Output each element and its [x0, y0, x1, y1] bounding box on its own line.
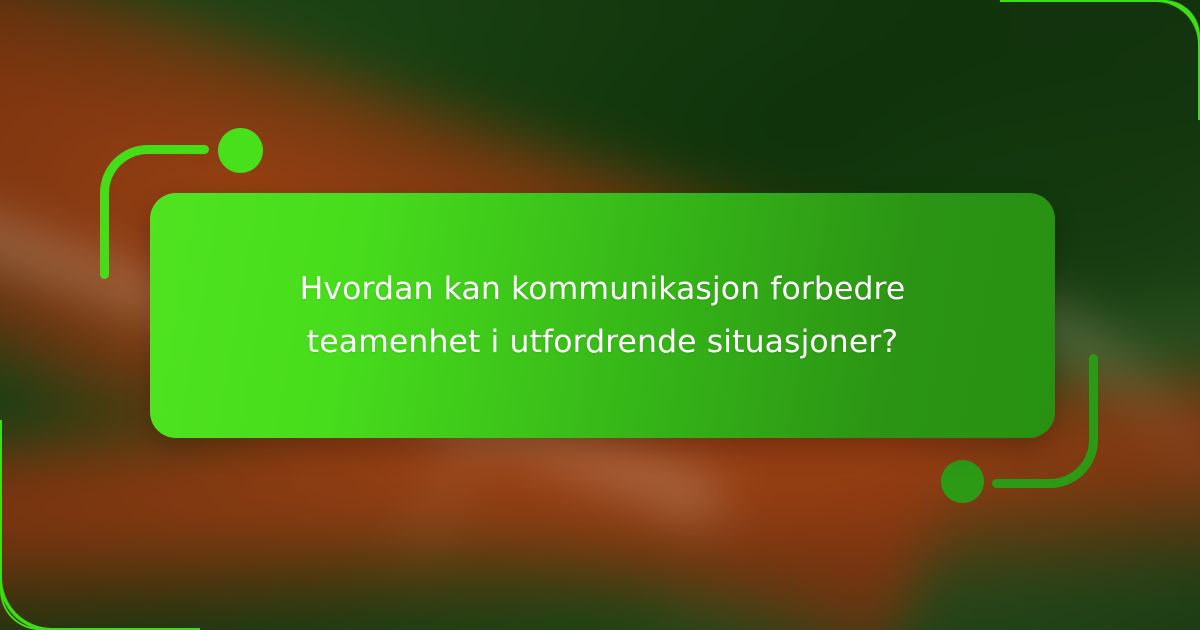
corner-frame-top-right-icon [1000, 0, 1200, 120]
bracket-cap-vertical [1089, 354, 1098, 363]
corner-line-inner [1048, 0, 1200, 86]
bracket-cap-vertical [100, 270, 109, 279]
corner-line-inner [0, 532, 136, 630]
corner-frame-bottom-left-icon [0, 420, 200, 630]
bracket-cap-horizontal [200, 145, 209, 154]
question-card: Hvordan kan kommunikasjon forbedre teame… [150, 193, 1055, 438]
question-text: Hvordan kan kommunikasjon forbedre teame… [263, 263, 943, 369]
accent-dot-top-left [218, 128, 263, 173]
accent-dot-bottom-right [941, 460, 984, 503]
social-card-canvas: Hvordan kan kommunikasjon forbedre teame… [0, 0, 1200, 630]
bracket-cap-horizontal [992, 479, 1001, 488]
